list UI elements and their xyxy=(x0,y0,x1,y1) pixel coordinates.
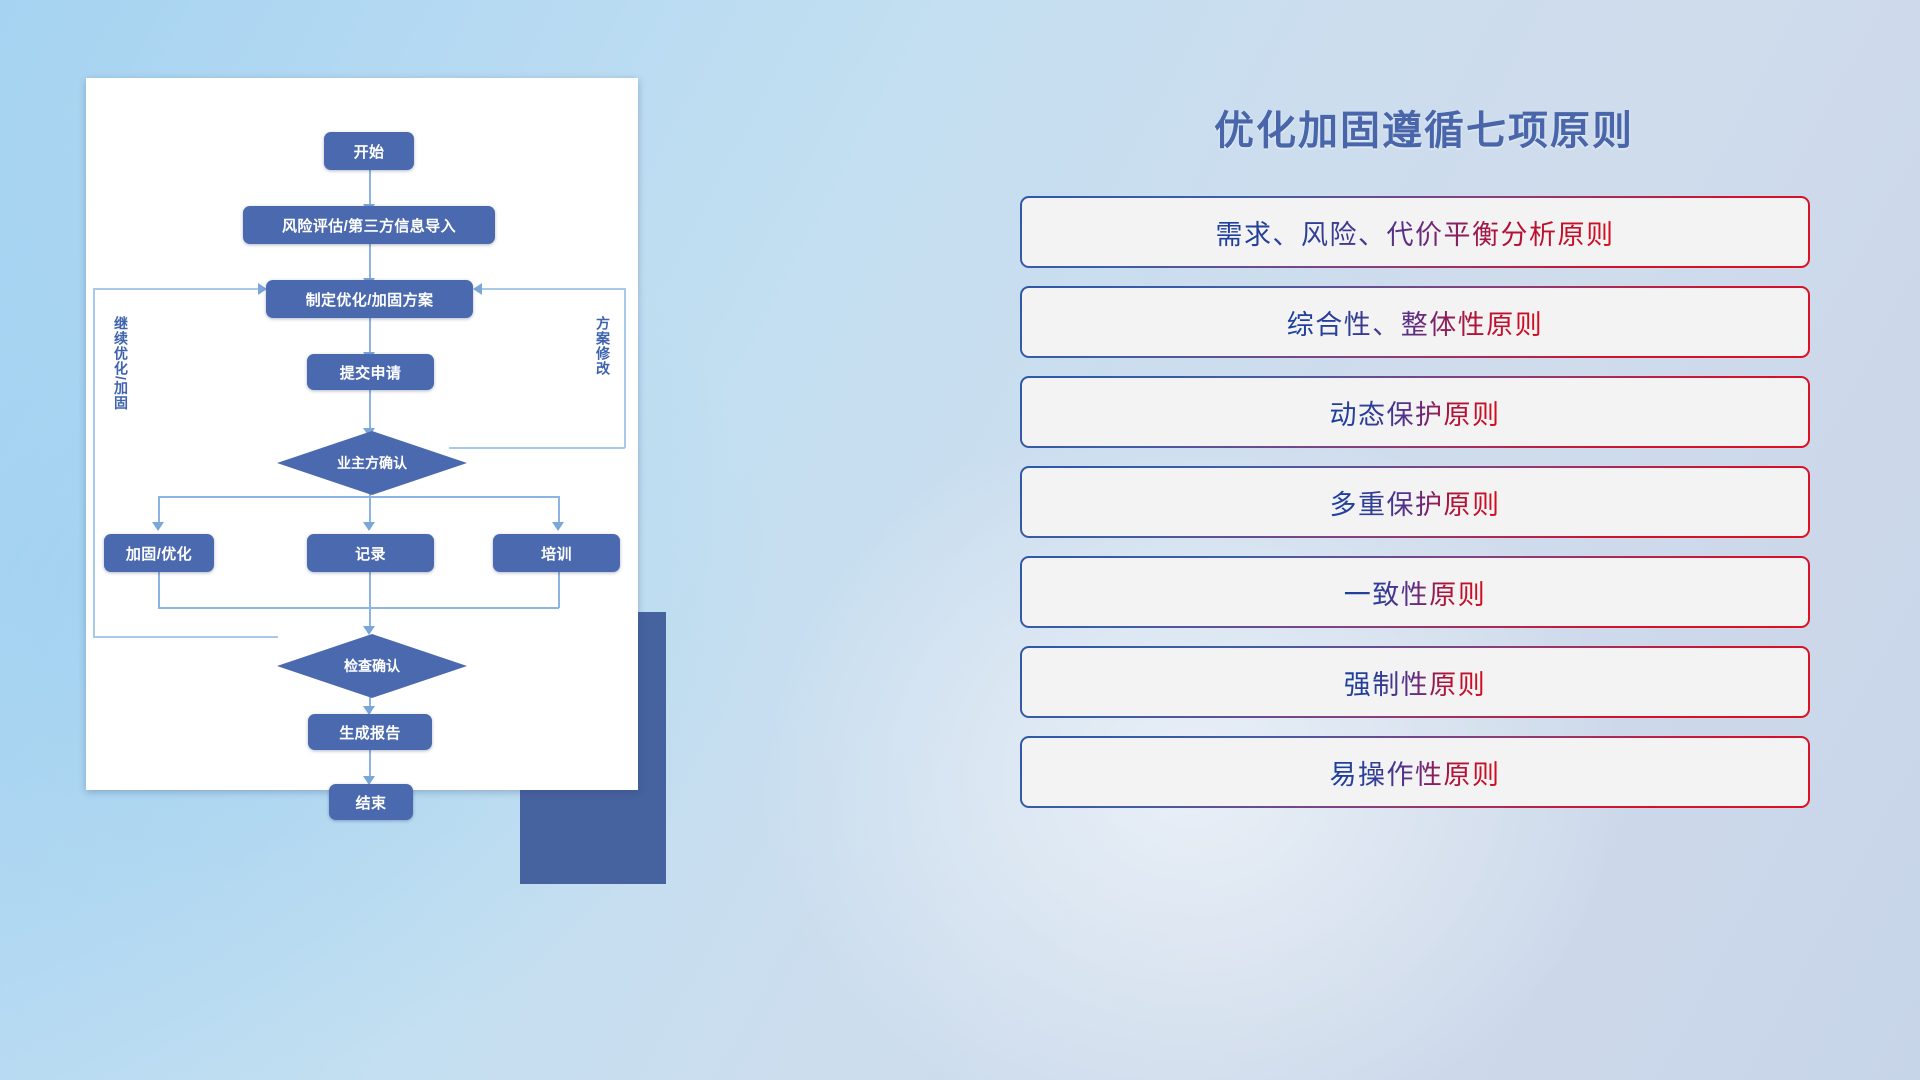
edge-label-left-loop: 继续优化/加固 xyxy=(114,316,128,411)
flow-node-submit[interactable]: 提交申请 xyxy=(307,354,434,390)
principle-card-inner: 强制性原则 xyxy=(1022,648,1807,715)
principle-label: 动态保护原则 xyxy=(1330,393,1501,432)
connector-left-loop-vertical xyxy=(93,288,95,637)
principle-card-inner: 易操作性原则 xyxy=(1022,738,1807,805)
edge-label-right-loop: 方案修改 xyxy=(596,316,610,376)
flowchart-card: 继续优化/加固 方案修改 开始 风险评估/第三方信息导入 制定优化/加固方案 提… xyxy=(86,78,638,790)
arrowhead-to-training xyxy=(552,522,564,531)
principle-card[interactable]: 需求、风险、代价平衡分析原则 xyxy=(1020,196,1810,268)
principles-panel: 优化加固遵循七项原则 需求、风险、代价平衡分析原则 综合性、整体性原则 动态保护… xyxy=(1020,80,1850,1010)
principle-card-inner: 一致性原则 xyxy=(1022,558,1807,625)
connector-right-loop-top xyxy=(479,288,625,290)
principle-card-inner: 综合性、整体性原则 xyxy=(1022,288,1807,355)
principle-label: 易操作性原则 xyxy=(1330,753,1501,792)
principle-card[interactable]: 一致性原则 xyxy=(1020,556,1810,628)
flow-node-reinforce[interactable]: 加固/优化 xyxy=(104,534,214,572)
principle-card[interactable]: 强制性原则 xyxy=(1020,646,1810,718)
principle-label: 需求、风险、代价平衡分析原则 xyxy=(1216,213,1615,252)
connector-start-risk xyxy=(369,170,371,208)
flow-node-plan[interactable]: 制定优化/加固方案 xyxy=(266,280,473,318)
arrowhead-right-loop-into-plan xyxy=(473,283,482,295)
connector-left-loop-bottom xyxy=(93,636,278,638)
principle-card-inner: 需求、风险、代价平衡分析原则 xyxy=(1022,198,1807,265)
connector-risk-plan xyxy=(369,244,371,282)
principle-label: 一致性原则 xyxy=(1344,573,1487,612)
principle-card-list: 需求、风险、代价平衡分析原则 综合性、整体性原则 动态保护原则 多重保护原则 一… xyxy=(1020,196,1850,808)
principle-label: 多重保护原则 xyxy=(1330,483,1501,522)
flow-node-training[interactable]: 培训 xyxy=(493,534,620,572)
flowchart-region: 继续优化/加固 方案修改 开始 风险评估/第三方信息导入 制定优化/加固方案 提… xyxy=(86,78,658,790)
connector-submit-owner xyxy=(369,390,371,432)
principle-card[interactable]: 易操作性原则 xyxy=(1020,736,1810,808)
connector-training-down xyxy=(558,572,560,608)
principle-label: 强制性原则 xyxy=(1344,663,1487,702)
arrowhead-to-reinforce xyxy=(152,522,164,531)
flow-node-check-confirm-label: 检查确认 xyxy=(344,656,400,676)
connector-left-loop-top xyxy=(93,288,265,290)
connector-right-loop-bottom xyxy=(449,447,625,449)
principle-label: 综合性、整体性原则 xyxy=(1287,303,1544,342)
arrowhead-to-record xyxy=(363,522,375,531)
connector-plan-submit xyxy=(369,318,371,356)
principle-card-inner: 动态保护原则 xyxy=(1022,378,1807,445)
connector-record-down xyxy=(369,572,371,630)
principle-card[interactable]: 综合性、整体性原则 xyxy=(1020,286,1810,358)
connector-right-loop-vertical xyxy=(624,288,626,448)
principle-card-inner: 多重保护原则 xyxy=(1022,468,1807,535)
flow-node-owner-confirm[interactable]: 业主方确认 xyxy=(277,431,467,495)
flow-node-check-confirm[interactable]: 检查确认 xyxy=(277,634,467,698)
flow-node-report[interactable]: 生成报告 xyxy=(308,714,432,750)
flow-node-start[interactable]: 开始 xyxy=(324,132,414,170)
page-title: 优化加固遵循七项原则 xyxy=(998,98,1850,156)
flow-node-end[interactable]: 结束 xyxy=(329,784,413,820)
connector-reinforce-down xyxy=(158,572,160,608)
connector-merge-bus xyxy=(158,607,559,609)
principle-card[interactable]: 多重保护原则 xyxy=(1020,466,1810,538)
flow-node-risk-assessment[interactable]: 风险评估/第三方信息导入 xyxy=(243,206,495,244)
connector-fanout-bus xyxy=(158,496,559,498)
flow-node-record[interactable]: 记录 xyxy=(307,534,434,572)
principle-card[interactable]: 动态保护原则 xyxy=(1020,376,1810,448)
flow-node-owner-confirm-label: 业主方确认 xyxy=(337,453,407,473)
